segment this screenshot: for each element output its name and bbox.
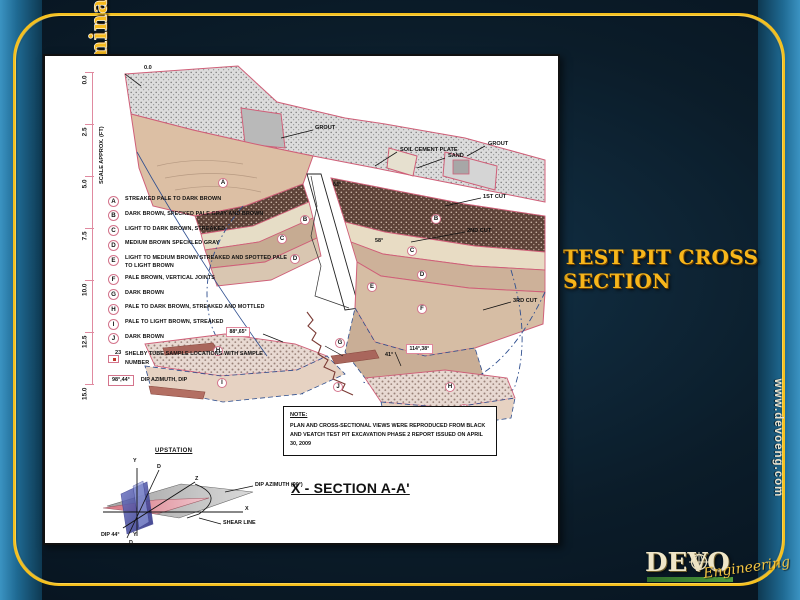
legend-row-B: B DARK BROWN, SPECKED PALE GRAY AND BROW… <box>108 210 288 222</box>
legend-row-A: A STREAKED PALE TO DARK BROWN <box>108 195 288 207</box>
legend-key-E: E <box>108 255 119 266</box>
note-body: PLAN AND CROSS-SECTIONAL VIEWS WERE REPR… <box>290 422 490 449</box>
note-heading: NOTE: <box>290 412 490 418</box>
dip-44-label: DIP 44° <box>101 532 120 538</box>
legend-text-I: PALE TO LIGHT BROWN, STREAKED <box>125 318 224 326</box>
legend-key-J: J <box>108 333 119 344</box>
unit-mark-C2: C <box>407 246 417 256</box>
unit-mark-F: F <box>417 304 427 314</box>
right-blue-band <box>758 0 800 600</box>
legend-row-dip: 98°,44° DIP AZIMUTH, DIP <box>108 375 288 386</box>
legend-text-A: STREAKED PALE TO DARK BROWN <box>125 195 221 203</box>
axis-label-y-top: Y <box>133 458 137 464</box>
legend-text-F: PALE BROWN, VERTICAL JOINTS <box>125 274 215 282</box>
website-url[interactable]: www.devoeng.com <box>772 368 784 508</box>
unit-mark-B: B <box>300 215 310 225</box>
legend-row-G: G DARK BROWN <box>108 289 288 301</box>
dip-box-2: 114°,38° <box>406 344 433 354</box>
legend-row-D: D MEDIUM BROWN SPECKLED GRAY <box>108 239 288 251</box>
legend-text-sample: SHELBY TUBE SAMPLE LOCATIONS WITH SAMPLE… <box>125 350 288 366</box>
legend-text-D: MEDIUM BROWN SPECKLED GRAY <box>125 239 219 247</box>
legend-key-A: A <box>108 196 119 207</box>
legend-text-J: DARK BROWN <box>125 333 164 341</box>
legend-dip-box: 98°,44° <box>108 375 134 386</box>
origin-label: 0.0 <box>144 65 152 71</box>
legend-key-D: D <box>108 240 119 251</box>
block-diagram-3d: Y Y X Z D D DIP AZIMUTH (90°) SHEAR LINE… <box>103 462 333 540</box>
legend-key-G: G <box>108 289 119 300</box>
unit-mark-G: G <box>335 338 345 348</box>
legend-row-C: C LIGHT TO DARK BROWN, STREAKED <box>108 225 288 237</box>
callout-first-cut: 1ST CUT <box>483 194 506 200</box>
unit-mark-H2: H <box>445 382 455 392</box>
legend-text-E: LIGHT TO MEDIUM BROWN STREAKED AND SPOTT… <box>125 254 288 270</box>
unit-mark-J: J <box>333 382 343 392</box>
legend: A STREAKED PALE TO DARK BROWN B DARK BRO… <box>108 195 288 386</box>
note-box: NOTE: PLAN AND CROSS-SECTIONAL VIEWS WER… <box>283 406 497 456</box>
sample-number: 23 <box>115 350 121 356</box>
sheet-title: X - SECTION A-A' <box>291 480 410 496</box>
legend-row-H: H PALE TO DARK BROWN, STREAKED AND MOTTL… <box>108 303 288 315</box>
slide-headline: TEST PIT CROSS SECTION <box>563 245 783 294</box>
legend-row-sample: 23 SHELBY TUBE SAMPLE LOCATIONS WITH SAM… <box>108 350 288 366</box>
legend-row-I: I PALE TO LIGHT BROWN, STREAKED <box>108 318 288 330</box>
axis-label-x: X <box>245 506 249 512</box>
unit-mark-B2: B <box>431 214 441 224</box>
left-blue-band <box>0 0 42 600</box>
legend-row-F: F PALE BROWN, VERTICAL JOINTS <box>108 274 288 286</box>
axis-label-d-top: D <box>157 464 161 470</box>
legend-key-I: I <box>108 319 119 330</box>
drawing-sheet: 0.0 2.5 5.0 7.5 10.0 12.5 15.0 SCALE APP… <box>43 54 560 545</box>
shelby-tube-icon: 23 <box>108 355 119 363</box>
angle-63: 63° <box>333 182 341 188</box>
slide-canvas: ASCE-EWRI Water Resources Seminar www.de… <box>0 0 800 600</box>
legend-key-F: F <box>108 274 119 285</box>
legend-key-H: H <box>108 304 119 315</box>
legend-text-H: PALE TO DARK BROWN, STREAKED AND MOTTLED <box>125 303 265 311</box>
legend-key-B: B <box>108 210 119 221</box>
axis-label-z: Z <box>195 476 198 482</box>
angle-58: 58° <box>375 238 383 244</box>
callout-second-cut: 2ND CUT <box>467 228 491 234</box>
unit-mark-E: E <box>367 282 377 292</box>
callout-grout-right: GROUT <box>488 141 508 147</box>
devo-logo[interactable]: DEVO Engineering <box>645 546 765 592</box>
unit-mark-D2: D <box>417 270 427 280</box>
angle-41: 41° <box>385 352 393 358</box>
callout-grout-top: GROUT <box>315 125 335 131</box>
legend-text-G: DARK BROWN <box>125 289 164 297</box>
upstation-label: UPSTATION <box>155 448 192 454</box>
legend-key-C: C <box>108 225 119 236</box>
shear-line-label: SHEAR LINE <box>223 520 256 526</box>
legend-row-J: J DARK BROWN <box>108 333 288 345</box>
axis-label-y-bottom: Y <box>133 532 137 538</box>
callout-third-cut: 3RD CUT <box>513 298 537 304</box>
axis-label-d-bottom: D <box>129 540 133 545</box>
legend-text-C: LIGHT TO DARK BROWN, STREAKED <box>125 225 225 233</box>
unit-mark-D: D <box>290 254 300 264</box>
unit-mark-A: A <box>218 178 228 188</box>
legend-row-E: E LIGHT TO MEDIUM BROWN STREAKED AND SPO… <box>108 254 288 270</box>
callout-sand: SAND <box>448 153 464 159</box>
legend-dip-text: DIP AZIMUTH, DIP <box>141 377 187 383</box>
legend-text-B: DARK BROWN, SPECKED PALE GRAY AND BROWN <box>125 210 263 218</box>
